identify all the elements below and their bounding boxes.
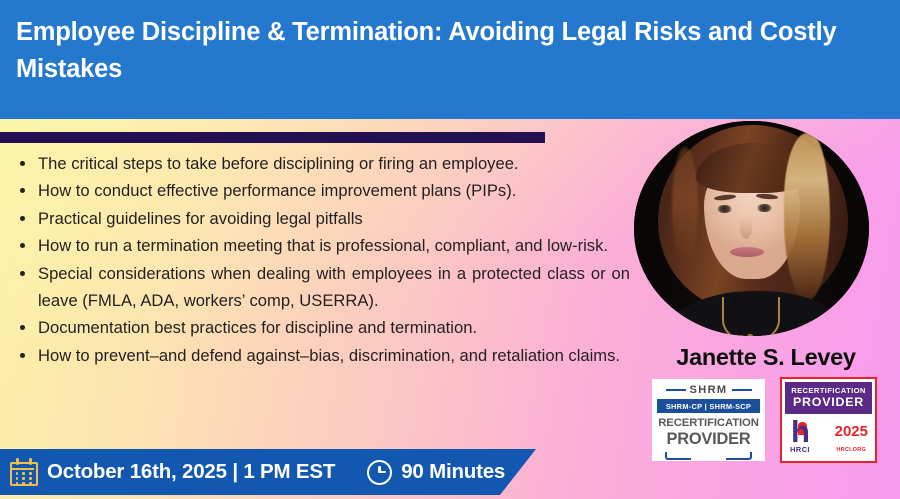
hrci-org-label: HRCI [790, 445, 810, 454]
calendar-day-grid [16, 472, 33, 485]
necklace-chain [722, 297, 780, 336]
agenda-bullet-list: The critical steps to take before discip… [14, 150, 630, 369]
shrm-bracket-right [726, 452, 752, 460]
shrm-rule-left [666, 389, 686, 391]
hair-highlight-right [784, 133, 830, 301]
list-item-label: How to prevent–and defend against–bias, … [38, 346, 620, 365]
list-item: How to run a termination meeting that is… [14, 232, 630, 259]
page-title: Employee Discipline & Termination: Avoid… [16, 14, 880, 88]
shrm-bracket-left [665, 452, 691, 460]
list-item: The critical steps to take before discip… [14, 150, 630, 177]
calendar-day [22, 472, 25, 475]
list-item-label: Documentation best practices for discipl… [38, 318, 477, 337]
bullet-dot-icon [20, 216, 25, 221]
hrci-logo-letter: h [791, 416, 810, 447]
event-duration-label: 90 Minutes [401, 460, 505, 484]
list-item-label: The critical steps to take before discip… [38, 154, 519, 173]
event-details-banner: October 16th, 2025 | 1 PM EST 90 Minutes [0, 449, 536, 495]
calendar-day [29, 482, 32, 485]
bullet-dot-icon [20, 243, 25, 248]
shrm-org-label: SHRM [690, 384, 728, 396]
calendar-header-bar [12, 468, 34, 470]
hrci-provider-label: PROVIDER [785, 395, 872, 409]
list-item-label: Practical guidelines for avoiding legal … [38, 209, 363, 228]
bullet-dot-icon [20, 325, 25, 330]
list-item-label: How to run a termination meeting that is… [38, 236, 608, 255]
bullet-dot-icon [20, 188, 25, 193]
hrci-recertification-label: RECERTIFICATION [785, 386, 872, 395]
eye-right [757, 204, 772, 212]
hrci-header: RECERTIFICATION PROVIDER [785, 382, 872, 414]
shrm-provider-label: PROVIDER [656, 430, 761, 448]
speaker-name: Janette S. Levey [646, 344, 886, 371]
list-item: Practical guidelines for avoiding legal … [14, 205, 630, 232]
calendar-icon [10, 458, 38, 486]
bullet-dot-icon [20, 353, 25, 358]
calendar-day [16, 477, 19, 480]
bullet-dot-icon [20, 161, 25, 166]
mouth-shape [730, 247, 764, 257]
shrm-rule-right [732, 389, 752, 391]
shrm-certifications-label: SHRM-CP | SHRM-SCP [657, 399, 760, 413]
calendar-day [16, 482, 19, 485]
shrm-recertification-provider-badge: SHRM SHRM-CP | SHRM-SCP RECERTIFICATION … [652, 379, 765, 461]
header-banner: Employee Discipline & Termination: Avoid… [0, 0, 900, 119]
list-item: Documentation best practices for discipl… [14, 314, 630, 341]
hrci-year-label: 2025 [835, 424, 868, 440]
shrm-bracket-decoration [656, 449, 761, 461]
shrm-recertification-label: RECERTIFICATION [656, 417, 761, 430]
speaker-avatar [634, 121, 869, 336]
list-item: Special considerations when dealing with… [14, 260, 630, 315]
clock-minute-hand [379, 471, 386, 473]
event-datetime-label: October 16th, 2025 | 1 PM EST [47, 460, 335, 484]
hrci-recertification-provider-badge: RECERTIFICATION PROVIDER h 2025 HRCI HRC… [780, 377, 877, 463]
hrci-url-label: HRCI.ORG [836, 447, 866, 453]
calendar-day [29, 472, 32, 475]
calendar-day [22, 477, 25, 480]
list-item-label: How to conduct effective performance imp… [38, 181, 516, 200]
eye-left [717, 205, 732, 213]
hair-highlight-left [672, 147, 698, 267]
list-item: How to conduct effective performance imp… [14, 177, 630, 204]
bullet-dot-icon [20, 271, 25, 276]
list-item: How to prevent–and defend against–bias, … [14, 342, 630, 369]
calendar-day [16, 472, 19, 475]
certification-badges: SHRM SHRM-CP | SHRM-SCP RECERTIFICATION … [652, 379, 882, 463]
calendar-day [22, 482, 25, 485]
shrm-header: SHRM [656, 384, 761, 396]
webinar-promo-poster: Employee Discipline & Termination: Avoid… [0, 0, 900, 499]
list-item-label: Special considerations when dealing with… [38, 264, 630, 310]
nose-shape [740, 217, 752, 239]
clock-icon [367, 460, 392, 485]
divider-rule [0, 132, 545, 143]
hrci-body: h 2025 HRCI HRCI.ORG [785, 414, 872, 454]
calendar-day [29, 477, 32, 480]
